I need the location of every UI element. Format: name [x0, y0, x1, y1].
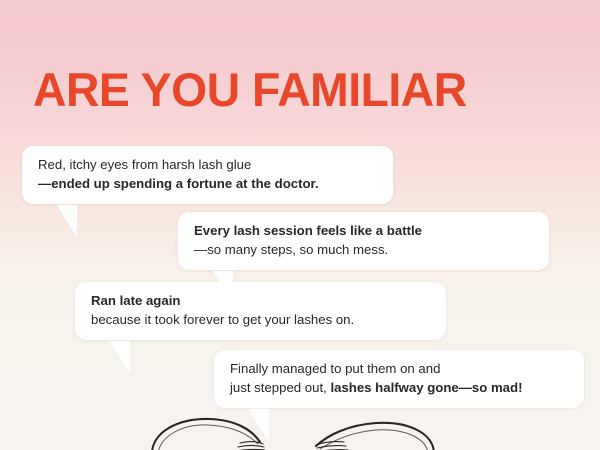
speech-bubble-2: Every lash session feels like a battle —…	[178, 212, 549, 270]
headline-line-1: ARE YOU FAMILIAR	[33, 66, 565, 114]
bubble-3-line-2: because it took forever to get your lash…	[91, 311, 430, 330]
speech-bubble-4: Finally managed to put them on and just …	[214, 350, 584, 408]
bubble-2-line-2: —so many steps, so much mess.	[194, 241, 533, 260]
speech-bubble-3: Ran late again because it took forever t…	[75, 282, 446, 340]
bubble-2-line-1: Every lash session feels like a battle	[194, 223, 422, 238]
bubble-4-line-2-prefix: just stepped out,	[230, 380, 330, 395]
false-eyelashes-illustration	[148, 410, 438, 450]
bubble-1-line-2: —ended up spending a fortune at the doct…	[38, 176, 319, 191]
bubble-1-line-1: Red, itchy eyes from harsh lash glue	[38, 156, 377, 175]
bubble-4-line-1: Finally managed to put them on and	[230, 360, 568, 379]
bubble-3-line-1: Ran late again	[91, 293, 180, 308]
speech-bubble-3-tail	[110, 341, 130, 374]
promo-poster: ARE YOU FAMILIAR WITH THESE? Red, itchy …	[0, 0, 600, 450]
bubble-4-line-2-emphasis: lashes halfway gone—so mad!	[330, 380, 522, 395]
speech-bubble-1-tail	[57, 205, 77, 238]
speech-bubble-1: Red, itchy eyes from harsh lash glue —en…	[22, 146, 393, 204]
